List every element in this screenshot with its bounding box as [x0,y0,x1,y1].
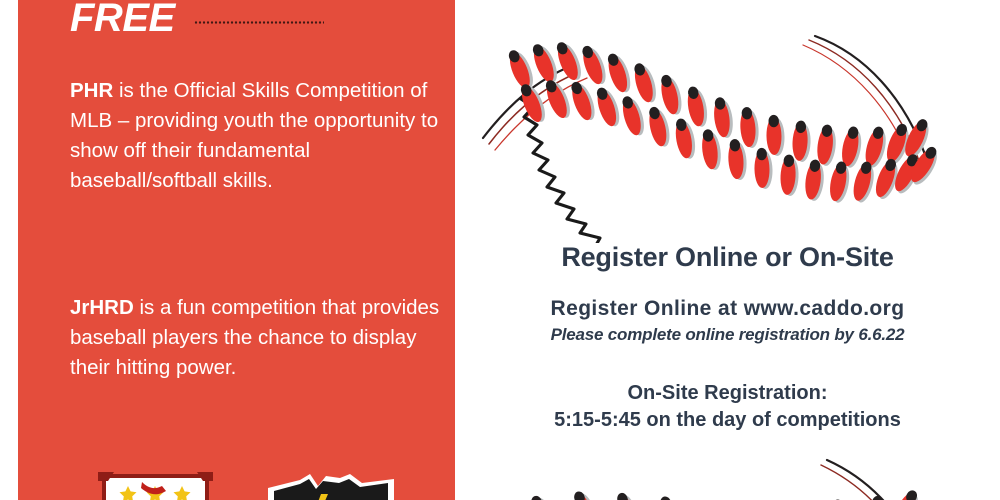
phr-logo [98,472,213,500]
baseball-stitching-icon [475,18,1000,243]
left-red-panel: FREE PHR is the Official Skills Competit… [18,0,455,500]
paragraph-phr-lead: PHR [70,79,113,102]
onsite-registration-title: On-Site Registration: [455,380,1000,406]
paragraph-phr: PHR is the Official Skills Competition o… [70,76,442,196]
jrhrd-logo [266,474,396,500]
online-registration-title[interactable]: Register Online at www.caddo.org [455,296,1000,322]
onsite-registration-time: 5:15-5:45 on the day of competitions [455,407,1000,433]
right-content-panel: Register Online or On-Site Register Onli… [455,0,1000,500]
free-heading-row: FREE [70,0,450,48]
register-heading: Register Online or On-Site [455,240,1000,274]
dotted-rule-divider [194,21,324,24]
online-registration-deadline: Please complete online registration by 6… [455,324,1000,346]
baseball-stitching-icon [475,452,1000,500]
registration-block: Register Online or On-Site Register Onli… [455,240,1000,433]
free-heading: FREE [70,0,175,40]
partner-logos [70,472,450,500]
paragraph-jrhrd: JrHRD is a fun competition that provides… [70,293,442,383]
flyer-canvas: FREE PHR is the Official Skills Competit… [0,0,1000,500]
paragraph-jrhrd-lead: JrHRD [70,296,134,319]
paragraph-phr-body: is the Official Skills Competition of ML… [70,79,438,192]
